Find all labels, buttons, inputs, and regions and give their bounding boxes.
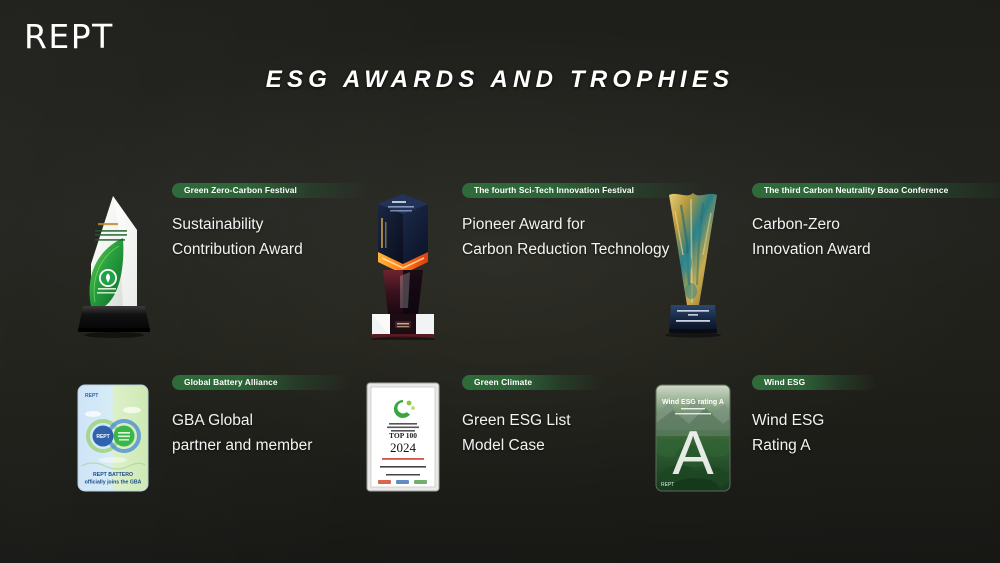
svg-text:2024: 2024	[390, 440, 417, 455]
award-title-line-1: Green ESG List	[462, 408, 637, 433]
svg-text:REPT BATTERO: REPT BATTERO	[93, 472, 133, 478]
award-title-line-1: Carbon-Zero	[752, 212, 1000, 237]
gba-membership-card-icon: REPT REPT	[77, 384, 149, 492]
award-title: Sustainability Contribution Award	[172, 212, 367, 262]
svg-text:REPT: REPT	[661, 482, 674, 488]
award-card-pioneer: The fourth Sci-Tech Innovation Festival …	[350, 180, 637, 360]
award-title: Green ESG List Model Case	[462, 408, 637, 458]
award-card-wind-esg: A Wind ESG rating A REPT	[640, 372, 927, 502]
svg-text:REPT: REPT	[85, 393, 98, 399]
certificate-icon: TOP 100 2024	[366, 382, 440, 492]
awards-row-2: REPT REPT	[0, 372, 1000, 502]
award-title-line-1: Wind ESG	[752, 408, 927, 433]
slide-canvas: REPT ESG AWARDS AND TROPHIES	[0, 0, 1000, 563]
award-artwork-slot: A Wind ESG rating A REPT	[640, 372, 746, 492]
award-card-green-esg: TOP 100 2024	[350, 372, 637, 502]
svg-text:REPT: REPT	[96, 434, 109, 440]
awards-grid: Green Zero-Carbon Festival Sustainabilit…	[0, 160, 1000, 550]
award-title-line-2: partner and member	[172, 433, 348, 458]
award-artwork-slot	[640, 180, 746, 340]
rept-logo: REPT	[24, 20, 114, 53]
gold-textured-trophy-icon	[657, 185, 729, 340]
award-text-block: Green Zero-Carbon Festival Sustainabilit…	[166, 180, 367, 262]
award-artwork-slot	[350, 180, 456, 340]
award-title-line-2: Contribution Award	[172, 237, 367, 262]
award-artwork-slot	[60, 180, 166, 340]
wind-esg-rating-card-icon: A Wind ESG rating A REPT	[655, 384, 731, 492]
award-badge: Green Climate	[462, 375, 602, 390]
award-text-block: Global Battery Alliance GBA Global partn…	[166, 372, 348, 458]
award-badge: Wind ESG	[752, 375, 875, 390]
award-badge: Green Zero-Carbon Festival	[172, 183, 367, 198]
award-card-carbon-zero: The third Carbon Neutrality Boao Confere…	[640, 180, 927, 360]
svg-text:TOP 100: TOP 100	[389, 431, 417, 440]
award-card-sustainability: Green Zero-Carbon Festival Sustainabilit…	[60, 180, 347, 360]
award-text-block: The third Carbon Neutrality Boao Confere…	[746, 180, 1000, 262]
award-badge: Global Battery Alliance	[172, 375, 348, 390]
award-title-line-2: Rating A	[752, 433, 927, 458]
award-title-line-1: Sustainability	[172, 212, 367, 237]
award-title-line-1: GBA Global	[172, 408, 348, 433]
award-title-line-2: Model Case	[462, 433, 637, 458]
svg-text:Wind ESG rating A: Wind ESG rating A	[662, 399, 724, 406]
dark-obelisk-trophy-icon	[366, 188, 440, 340]
award-title-line-2: Innovation Award	[752, 237, 1000, 262]
award-artwork-slot: TOP 100 2024	[350, 372, 456, 492]
award-artwork-slot: REPT REPT	[60, 372, 166, 492]
award-title: GBA Global partner and member	[172, 408, 348, 458]
award-title: Wind ESG Rating A	[752, 408, 927, 458]
award-card-gba: REPT REPT	[60, 372, 347, 502]
awards-row-1: Green Zero-Carbon Festival Sustainabilit…	[0, 180, 1000, 360]
svg-text:officially joins the GBA: officially joins the GBA	[85, 480, 142, 486]
award-title: Carbon-Zero Innovation Award	[752, 212, 1000, 262]
green-leaf-crystal-trophy-icon	[67, 190, 159, 340]
page-title: ESG AWARDS AND TROPHIES	[0, 66, 1000, 94]
award-badge: The third Carbon Neutrality Boao Confere…	[752, 183, 1000, 198]
svg-text:A: A	[672, 419, 714, 488]
award-text-block: Green Climate Green ESG List Model Case	[456, 372, 637, 458]
award-text-block: Wind ESG Wind ESG Rating A	[746, 372, 927, 458]
